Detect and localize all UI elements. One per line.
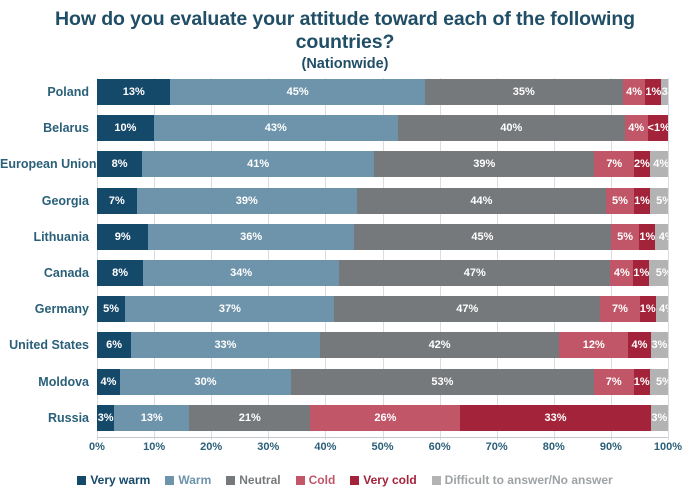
bar-segment-label: 1% [634, 195, 650, 207]
bar-segment-label: 5% [656, 195, 668, 207]
category-label: Lithuania [0, 230, 97, 244]
category-label: Moldova [0, 375, 97, 389]
x-axis-tick-label: 20% [200, 441, 222, 453]
legend-item[interactable]: Neutral [226, 473, 280, 487]
x-axis-tick-label: 100% [654, 441, 682, 453]
bar-segment[interactable]: 3% [651, 332, 668, 358]
bar-segment-label: 5% [656, 376, 668, 388]
bar-segment[interactable]: 1% [645, 79, 661, 105]
bar-segment[interactable]: 5% [649, 260, 668, 286]
bar-segment[interactable]: 3% [97, 405, 114, 431]
bar-segment[interactable]: 6% [97, 332, 131, 358]
x-axis-tick-label: 30% [257, 441, 279, 453]
bar-segment-label: 4% [659, 303, 668, 315]
x-axis-tick-label: 10% [143, 441, 165, 453]
category-label: Germany [0, 302, 97, 316]
bar-segment-label: 8% [112, 267, 128, 279]
bar-segment[interactable]: 26% [310, 405, 460, 431]
bar-segment[interactable]: 4% [655, 224, 668, 250]
bar-segment-label: 33% [544, 412, 566, 424]
bar-segment-label: 1% [633, 267, 649, 279]
bar-segment-label: <1% [648, 122, 668, 134]
bar-segment-label: 39% [236, 195, 258, 207]
bar-segment-label: 3% [662, 86, 668, 98]
stacked-bar: 8%34%47%4%1%5% [97, 260, 668, 286]
bar-segment[interactable]: 13% [114, 405, 189, 431]
bar-segment-label: 5% [656, 267, 668, 279]
bar-segment[interactable]: 8% [97, 151, 142, 177]
bar-segment[interactable]: 47% [334, 296, 600, 322]
bar-segment-label: 5% [103, 303, 119, 315]
bar-segment-label: 4% [659, 231, 668, 243]
x-axis-tick-label: 0% [89, 441, 105, 453]
bar-segment-label: 3% [651, 412, 667, 424]
bar-segment-label: 41% [247, 158, 269, 170]
bar-segment-label: 21% [239, 412, 261, 424]
x-axis-tick-label: 70% [486, 441, 508, 453]
bar-segment[interactable]: 5% [606, 188, 634, 214]
legend-item[interactable]: Very cold [350, 473, 416, 487]
bar-segment[interactable]: 41% [142, 151, 374, 177]
chart-row: Lithuania9%36%45%5%1%4% [0, 219, 690, 255]
legend-item[interactable]: Cold [296, 473, 336, 487]
bar-segment-label: 47% [464, 267, 486, 279]
bar-segment[interactable]: 7% [97, 188, 137, 214]
bar-segment[interactable]: 12% [559, 332, 628, 358]
chart-plot-area: Poland13%45%35%4%1%3%Belarus10%43%40%4%<… [0, 74, 690, 440]
bar-segment-label: 33% [214, 339, 236, 351]
stacked-bar: 7%39%44%5%1%5% [97, 188, 668, 214]
bar-segment-label: 42% [429, 339, 451, 351]
bar-segment-label: 43% [265, 122, 287, 134]
bar-segment[interactable]: 4% [610, 260, 633, 286]
bar-segment-label: 13% [123, 86, 145, 98]
category-label: European Union [0, 157, 97, 171]
chart-row: United States6%33%42%12%4%3% [0, 327, 690, 363]
bar-segment[interactable]: 8% [97, 260, 143, 286]
stacked-bar: 4%30%53%7%1%5% [97, 369, 668, 395]
bar-segment-label: 44% [470, 195, 492, 207]
chart-row: Poland13%45%35%4%1%3% [0, 74, 690, 110]
chart-row: European Union8%41%39%7%2%4% [0, 146, 690, 182]
legend-swatch-icon [432, 476, 441, 485]
bar-segment-label: 35% [513, 86, 535, 98]
stacked-bar: 13%45%35%4%1%3% [97, 79, 668, 105]
bar-segment-label: 7% [606, 158, 622, 170]
x-axis-tick-label: 60% [429, 441, 451, 453]
bar-segment[interactable]: 10% [97, 115, 154, 141]
bar-segment-label: 1% [639, 231, 655, 243]
bar-segment-label: 4% [631, 339, 647, 351]
legend-label: Warm [178, 473, 211, 487]
bar-segment-label: 4% [628, 122, 644, 134]
bar-segment[interactable]: 37% [125, 296, 334, 322]
bar-segment[interactable]: 4% [623, 79, 646, 105]
bar-segment[interactable]: 4% [625, 115, 648, 141]
bar-segment-label: 36% [240, 231, 262, 243]
chart-legend: Very warmWarmNeutralColdVery coldDifficu… [0, 473, 690, 487]
category-label: Russia [0, 411, 97, 425]
legend-item[interactable]: Very warm [77, 473, 150, 487]
chart-row: Georgia7%39%44%5%1%5% [0, 183, 690, 219]
bar-segment-label: 1% [634, 376, 650, 388]
legend-swatch-icon [296, 476, 305, 485]
bar-segment-label: 4% [100, 376, 116, 388]
bar-segment[interactable]: 1% [634, 369, 650, 395]
bar-segment-label: 9% [115, 231, 131, 243]
bar-segment-label: 47% [456, 303, 478, 315]
bar-segment[interactable]: 45% [354, 224, 611, 250]
bar-segment[interactable]: 39% [137, 188, 357, 214]
category-label: Georgia [0, 194, 97, 208]
bar-segment-label: 30% [194, 376, 216, 388]
legend-item[interactable]: Difficult to answer/No answer [432, 473, 613, 487]
bar-segment[interactable]: 5% [97, 296, 125, 322]
legend-label: Very cold [363, 473, 416, 487]
category-label: Canada [0, 266, 97, 280]
bar-segment[interactable]: 53% [291, 369, 594, 395]
bar-segment[interactable]: 4% [97, 369, 120, 395]
x-axis-tick-label: 80% [543, 441, 565, 453]
bar-segment-label: 37% [219, 303, 241, 315]
bar-segment[interactable]: 7% [600, 296, 640, 322]
bar-segment-label: 3% [98, 412, 114, 424]
bar-segment[interactable]: 4% [656, 296, 668, 322]
bar-segment-label: 4% [653, 158, 668, 170]
bar-segment-label: 45% [287, 86, 309, 98]
legend-label: Difficult to answer/No answer [445, 473, 613, 487]
bar-segment-label: 6% [106, 339, 122, 351]
bar-segment[interactable]: 39% [374, 151, 594, 177]
bar-segment[interactable]: 4% [628, 332, 651, 358]
bar-segment[interactable]: 1% [640, 296, 656, 322]
bar-segment-label: 40% [500, 122, 522, 134]
x-axis-tick-label: 90% [600, 441, 622, 453]
bar-segment-label: 7% [612, 303, 628, 315]
bar-segment[interactable]: 1% [633, 260, 649, 286]
bar-segment[interactable]: 33% [460, 405, 650, 431]
bar-segment[interactable]: 34% [143, 260, 339, 286]
bar-segment-label: 53% [431, 376, 453, 388]
bar-segment-label: 13% [141, 412, 163, 424]
bar-segment-label: 4% [614, 267, 630, 279]
chart-row: Moldova4%30%53%7%1%5% [0, 364, 690, 400]
x-axis-tick-label: 50% [371, 441, 393, 453]
bar-segment[interactable]: 35% [425, 79, 623, 105]
bar-segment-label: 7% [606, 376, 622, 388]
bar-segment-label: 1% [645, 86, 661, 98]
bar-segment-label: 26% [374, 412, 396, 424]
stacked-bar: 3%13%21%26%33%3% [97, 405, 668, 431]
bar-segment-label: 39% [473, 158, 495, 170]
legend-label: Neutral [239, 473, 280, 487]
chart-row: Canada8%34%47%4%1%5% [0, 255, 690, 291]
bar-segment[interactable]: 5% [650, 188, 668, 214]
bar-segment[interactable]: 43% [154, 115, 398, 141]
bar-segment[interactable]: 3% [651, 405, 668, 431]
chart-row: Russia3%13%21%26%33%3% [0, 400, 690, 436]
bar-segment[interactable]: 33% [131, 332, 319, 358]
stacked-bar: 5%37%47%7%1%4% [97, 296, 668, 322]
legend-label: Very warm [90, 473, 150, 487]
chart-subtitle: (Nationwide) [0, 56, 690, 72]
chart-row: Germany5%37%47%7%1%4% [0, 291, 690, 327]
bar-segment-label: 5% [617, 231, 633, 243]
stacked-bar: 10%43%40%4%<1%3% [97, 115, 668, 141]
bar-segment-label: 10% [114, 122, 136, 134]
bar-segment[interactable]: 7% [594, 151, 634, 177]
category-label: United States [0, 338, 97, 352]
legend-label: Cold [309, 473, 336, 487]
x-axis-line [97, 437, 668, 438]
bar-segment-label: 1% [640, 303, 656, 315]
legend-item[interactable]: Warm [165, 473, 211, 487]
chart-bar-rows: Poland13%45%35%4%1%3%Belarus10%43%40%4%<… [0, 74, 690, 436]
legend-swatch-icon [226, 476, 235, 485]
bar-segment[interactable]: 5% [611, 224, 640, 250]
chart-header: How do you evaluate your attitude toward… [0, 0, 690, 72]
stacked-bar: 8%41%39%7%2%4% [97, 151, 668, 177]
bar-segment[interactable]: 36% [148, 224, 354, 250]
bar-segment-label: 3% [651, 339, 667, 351]
x-axis-tick-label: 40% [314, 441, 336, 453]
bar-segment[interactable]: 45% [170, 79, 424, 105]
bar-segment[interactable]: 5% [650, 369, 668, 395]
bar-segment[interactable]: 1% [634, 188, 650, 214]
bar-segment-label: 2% [634, 158, 650, 170]
bar-segment-label: 34% [230, 267, 252, 279]
bar-segment-label: 8% [112, 158, 128, 170]
bar-segment[interactable]: 42% [320, 332, 560, 358]
legend-swatch-icon [350, 476, 359, 485]
bar-segment[interactable]: 1% [639, 224, 655, 250]
bar-segment-label: 12% [583, 339, 605, 351]
page-title: How do you evaluate your attitude toward… [0, 8, 690, 54]
bar-segment[interactable]: 47% [339, 260, 610, 286]
bar-segment-label: 4% [626, 86, 642, 98]
bar-segment[interactable]: 13% [97, 79, 170, 105]
chart-row: Belarus10%43%40%4%<1%3% [0, 110, 690, 146]
stacked-bar: 9%36%45%5%1%4% [97, 224, 668, 250]
bar-segment[interactable]: 30% [120, 369, 291, 395]
bar-segment[interactable]: 9% [97, 224, 148, 250]
bar-segment[interactable]: 40% [398, 115, 625, 141]
x-axis-ticks: 0%10%20%30%40%50%60%70%80%90%100% [97, 441, 668, 457]
bar-segment[interactable]: 21% [189, 405, 310, 431]
bar-segment[interactable]: 7% [594, 369, 634, 395]
legend-swatch-icon [77, 476, 86, 485]
category-label: Belarus [0, 121, 97, 135]
bar-segment[interactable]: 2% [634, 151, 650, 177]
bar-segment-label: 45% [471, 231, 493, 243]
bar-segment[interactable]: 3% [661, 79, 668, 105]
bar-segment[interactable]: <1% [648, 115, 668, 141]
bar-segment[interactable]: 44% [357, 188, 606, 214]
stacked-bar: 6%33%42%12%4%3% [97, 332, 668, 358]
category-label: Poland [0, 85, 97, 99]
bar-segment-label: 7% [109, 195, 125, 207]
bar-segment[interactable]: 4% [650, 151, 668, 177]
bar-segment-label: 5% [612, 195, 628, 207]
legend-swatch-icon [165, 476, 174, 485]
